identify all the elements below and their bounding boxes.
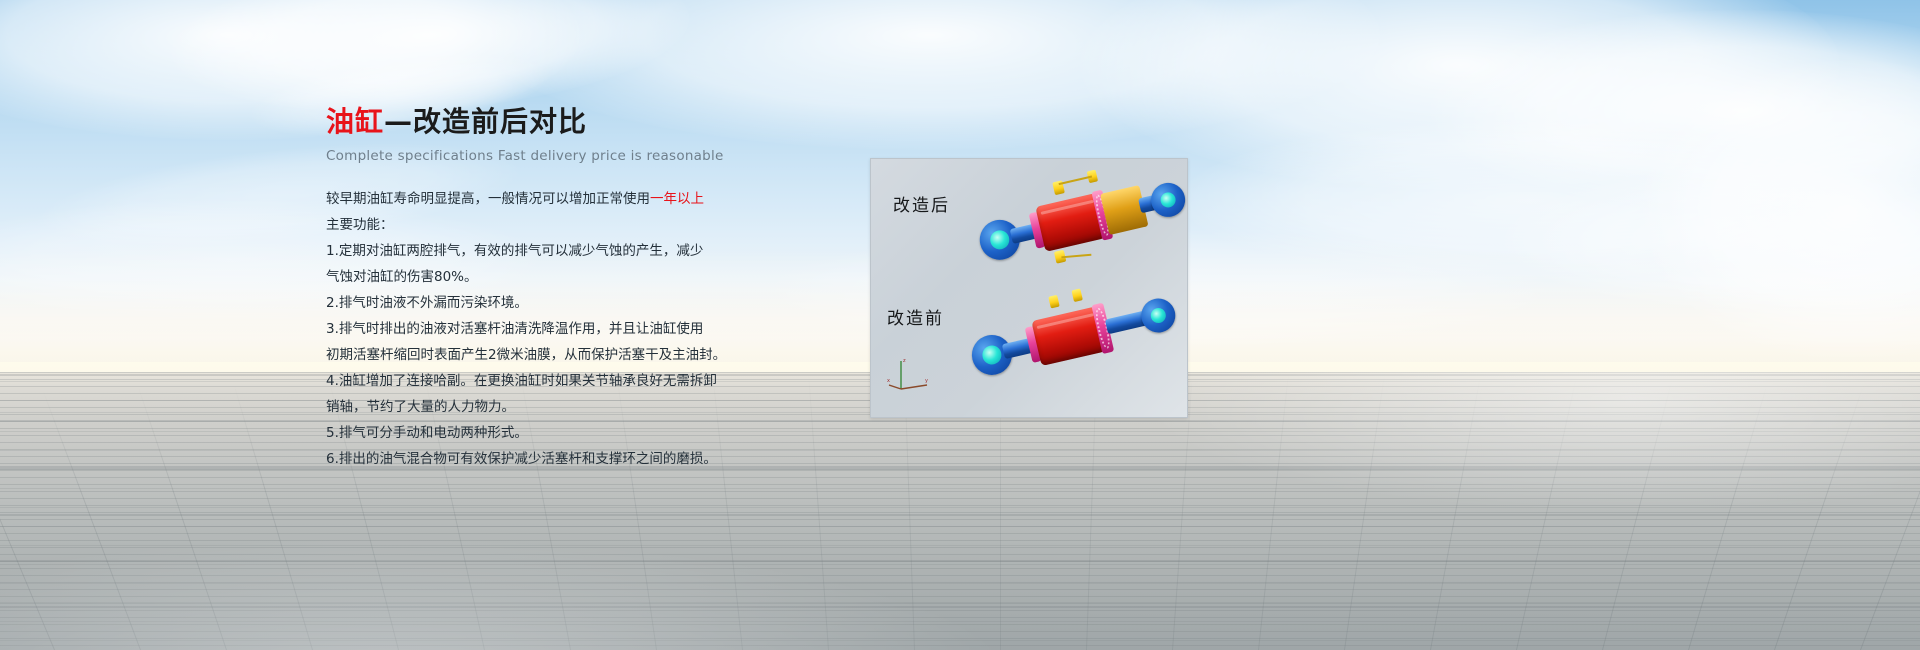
tile-seam <box>1688 383 1768 650</box>
banner-content: 油缸—改造前后对比 Complete specifications Fast d… <box>326 104 846 472</box>
svg-text:x: x <box>887 378 890 384</box>
port-fitting <box>1071 288 1082 302</box>
tile-seam <box>138 386 227 650</box>
axis-gizmo-icon: z x y <box>887 355 931 395</box>
tile-seam <box>1860 390 1920 650</box>
cloud-shape <box>1430 10 1920 210</box>
page-title: 油缸—改造前后对比 <box>326 104 846 139</box>
promo-banner: 油缸—改造前后对比 Complete specifications Fast d… <box>0 0 1920 650</box>
headline-rest: —改造前后对比 <box>384 105 587 138</box>
feature-line: 主要功能： <box>326 212 846 238</box>
feature-line-text: 销轴，节约了大量的人力物力。 <box>326 399 515 415</box>
banner-subtitle: Complete specifications Fast delivery pr… <box>326 148 846 164</box>
tile-seam <box>42 390 141 650</box>
cad-label-before: 改造前 <box>887 304 944 329</box>
feature-line-text: 1.定期对油缸两腔排气，有效的排气可以减少气蚀的产生，减少 <box>326 243 703 259</box>
tile-seam <box>0 393 55 650</box>
feature-line: 5.排气可分手动和电动两种形式。 <box>326 420 846 446</box>
tile-seam <box>233 383 313 650</box>
feature-line-text: 5.排气可分手动和电动两种形式。 <box>326 425 528 441</box>
vent-tube <box>1059 176 1093 186</box>
feature-line-text: 主要功能： <box>326 217 394 233</box>
drain-tube <box>1061 254 1091 259</box>
feature-line: 4.油缸增加了连接哈副。在更换油缸时如果关节轴承良好无需拆卸 <box>326 368 846 394</box>
feature-line: 初期活塞杆缩回时表面产生2微米油膜，从而保护活塞干及主油封。 <box>326 342 846 368</box>
feature-line-accent: 一年以上 <box>650 191 704 207</box>
feature-line-text: 4.油缸增加了连接哈副。在更换油缸时如果关节轴承良好无需拆卸 <box>326 373 717 389</box>
base-eye-icon <box>1148 180 1188 221</box>
headline-highlight: 油缸 <box>326 105 384 138</box>
feature-line-text: 2.排气时油液不外漏而污染环境。 <box>326 295 528 311</box>
feature-line: 2.排气时油液不外漏而污染环境。 <box>326 290 846 316</box>
cloud-shape <box>1080 0 1840 190</box>
feature-line-text: 初期活塞杆缩回时表面产生2微米油膜，从而保护活塞干及主油封。 <box>326 347 726 363</box>
feature-text-block: 较早期油缸寿命明显提高，一般情况可以增加正常使用一年以上主要功能：1.定期对油缸… <box>326 186 846 472</box>
feature-line: 销轴，节约了大量的人力物力。 <box>326 394 846 420</box>
feature-line-text: 3.排气时排出的油液对活塞杆油清洗降温作用，并且让油缸使用 <box>326 321 703 337</box>
cad-comparison-panel[interactable]: 改造后 改造前 <box>870 158 1188 418</box>
base-eye-icon <box>1138 295 1179 336</box>
svg-text:z: z <box>903 358 906 364</box>
feature-line-text: 6.排出的油气混合物可有效保护减少活塞杆和支撑环之间的磨损。 <box>326 451 717 467</box>
feature-line-text: 气蚀对油缸的伤害80%。 <box>326 269 478 285</box>
svg-text:y: y <box>925 378 928 384</box>
tile-seam <box>1430 376 1481 650</box>
tile-seam <box>1258 374 1289 650</box>
feature-line: 3.排气时排出的油液对活塞杆油清洗降温作用，并且让油缸使用 <box>326 316 846 342</box>
feature-line: 6.排出的油气混合物可有效保护减少活塞杆和支撑环之间的磨损。 <box>326 446 846 472</box>
feature-line: 1.定期对油缸两腔排气，有效的排气可以减少气蚀的产生，减少 <box>326 238 846 264</box>
tile-seam <box>1602 381 1672 650</box>
tile-seam <box>1516 378 1576 650</box>
feature-line-text: 较早期油缸寿命明显提高，一般情况可以增加正常使用 <box>326 191 650 207</box>
feature-line: 较早期油缸寿命明显提高，一般情况可以增加正常使用一年以上 <box>326 186 846 212</box>
tile-seam <box>1344 375 1385 650</box>
cad-label-after: 改造后 <box>893 191 950 216</box>
port-fitting <box>1048 295 1059 309</box>
tile-seam <box>1774 386 1863 650</box>
feature-line: 气蚀对油缸的伤害80%。 <box>326 264 846 290</box>
